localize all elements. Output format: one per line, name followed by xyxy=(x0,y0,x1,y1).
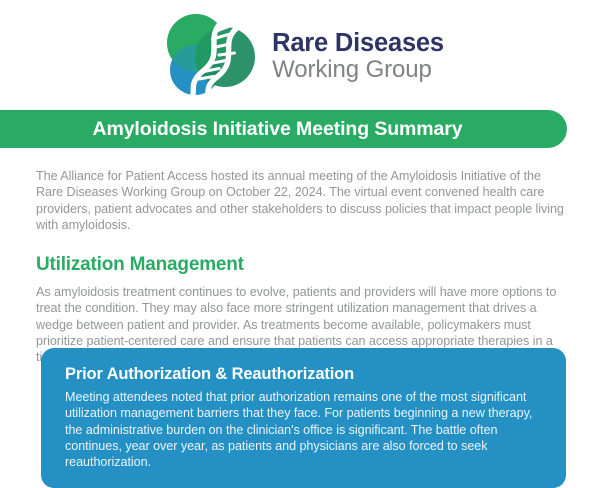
wordmark: Rare Diseases Working Group xyxy=(272,30,444,82)
intro-paragraph: The Alliance for Patient Access hosted i… xyxy=(36,148,570,233)
wordmark-line-rare-diseases: Rare Diseases xyxy=(272,30,444,56)
logo-header: Rare Diseases Working Group xyxy=(0,0,606,108)
callout-heading: Prior Authorization & Reauthorization xyxy=(65,365,542,384)
section-heading-utilization-management: Utilization Management xyxy=(36,233,570,284)
callout-paragraph: Meeting attendees noted that prior autho… xyxy=(65,389,542,470)
dna-circles-logo-icon xyxy=(162,13,258,99)
title-banner: Amyloidosis Initiative Meeting Summary xyxy=(0,110,567,148)
page-title: Amyloidosis Initiative Meeting Summary xyxy=(92,118,474,141)
callout-prior-authorization: Prior Authorization & Reauthorization Me… xyxy=(41,348,566,488)
wordmark-line-working-group: Working Group xyxy=(272,58,444,82)
